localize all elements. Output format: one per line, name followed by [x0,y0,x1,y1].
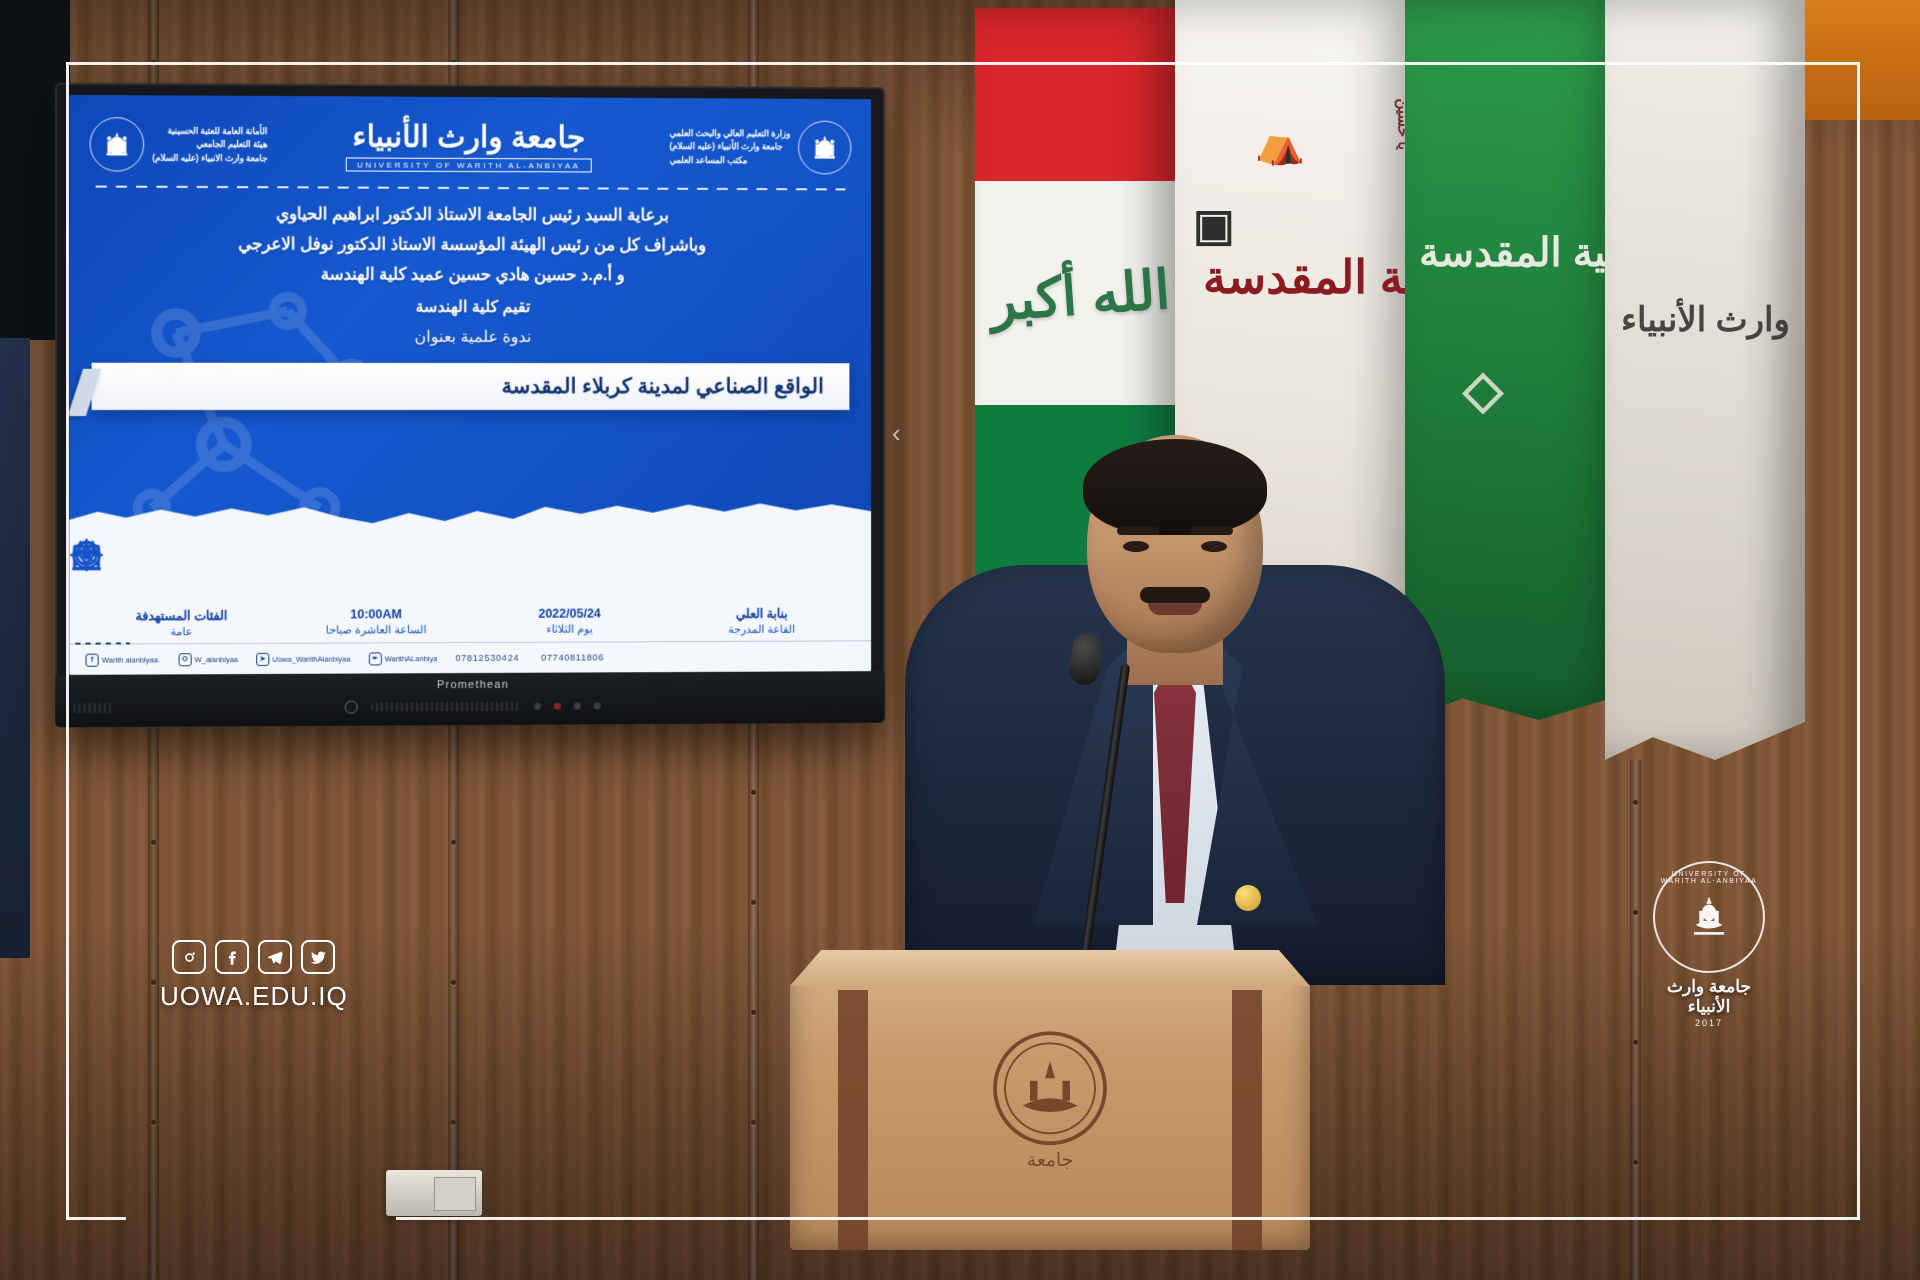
speaker-head [1087,435,1263,653]
interactive-flat-panel[interactable]: الأمانة العامة للعتبة الحسينية هيئة التع… [55,83,885,728]
shrine-crest-icon [798,121,851,175]
panel-controls[interactable] [345,699,601,713]
speaker-mouth [1148,603,1202,615]
title-ribbon-wrapper: الواقع الصناعي لمدينة كربلاء المقدسة [92,363,850,410]
panel-indicator-2 [574,702,581,709]
header-right-line1: الأمانة العامة للعتبة الحسينية [152,125,267,139]
time-value: 10:00AM [279,607,473,622]
wall-side-panel [0,338,30,958]
speaker-person [905,425,1445,985]
slide-body: برعاية السيد رئيس الجامعة الاستاذ الدكتو… [69,187,871,363]
panel-indicator-red [554,703,561,710]
instagram-icon[interactable] [172,940,206,974]
podium-accent-strip-left [838,990,868,1250]
wordmark-arabic: جامعة وارث الأنبياء [275,119,661,156]
speaker-eyebrow-left [1117,527,1159,535]
telegram-icon[interactable] [258,940,292,974]
speaker-eyebrow-right [1191,527,1233,535]
slide-footer: f Warith alanbiyaa. O W_alanbiyaa ➤ Uowa… [69,640,871,675]
header-left-line3: مكتب المساعد العلمي [669,153,790,167]
location-sub: القاعة المدرجة [666,623,857,639]
brand-url: UOWA.EDU.IQ [160,981,348,1012]
brand-social-icons[interactable] [160,940,348,974]
audience-sub: عامة [83,625,278,641]
panel-speaker-grille-left [73,703,114,713]
info-location: بنابة العلي القاعة المدرجة [666,560,857,638]
header-left-line2: جامعة وارث الأنبياء (عليه السلام) [669,140,790,154]
info-date: 2022/05/24 يوم الثلاثاء [473,561,666,639]
torn-paper-section: بنابة العلي القاعة المدرجة [69,522,871,674]
slide-line-subtitle: ندوة علمية بعنوان [100,326,842,347]
panel-screen[interactable]: الأمانة العامة للعتبة الحسينية هيئة التع… [69,95,871,675]
podium-accent-strip-right [1232,990,1262,1250]
seal-glyph [1678,886,1740,948]
location-value: بنابة العلي [666,606,857,622]
wordmark-english: UNIVERSITY OF WARITH AL-ANBIYAA [346,157,592,172]
social-twitter: ✒ WarithALanbiya [369,652,438,665]
podium-university-emblem: جامعة [975,1012,1125,1202]
speaker-eye-left [1123,541,1149,552]
university-watermark: UNIVERSITY OF WARITH AL-ANBIYAA جامعة وا… [1646,861,1772,1028]
brand-footer: UOWA.EDU.IQ [160,940,348,1012]
instagram-handle: W_alanbiyaa [194,655,238,664]
seal-name-ar: جامعة وارث الأنبياء [1646,977,1772,1017]
shrine-crest-icon [90,117,145,172]
slide-line-dean: و أ.م.د حسين هادي حسين عميد كلية الهندسة [100,264,842,286]
twitter-handle: WarithALanbiya [385,654,438,663]
contact-phones: 07812530424 07740811806 [455,652,604,663]
slide-line-patronage: برعاية السيد رئيس الجامعة الاستاذ الدكتو… [100,204,842,226]
phone-1: 07812530424 [455,653,519,663]
iraq-flag-inscription: الله أكبر [988,258,1172,333]
info-time: 10:00AM الساعة العاشرة صباحا [279,561,473,640]
location-pin-icon [666,560,857,604]
clock-icon [279,561,473,606]
panel-speaker-grille [371,702,521,712]
telegram-icon: ➤ [256,652,269,665]
facebook-icon: f [86,653,99,666]
event-info-row: بنابة العلي القاعة المدرجة [69,560,871,641]
facebook-handle: Warith alanbiyaa. [102,655,160,664]
panel-indicator [534,703,541,710]
seal-caption-en: UNIVERSITY OF WARITH AL-ANBIYAA [1655,871,1763,885]
speaker-moustache [1140,587,1210,603]
slide-line-supervision: وباشراف كل من رئيس الهيئة المؤسسة الاستا… [100,234,842,256]
calendar-icon [473,561,666,606]
footer-dash-rule [75,642,130,644]
chevron-left-icon[interactable]: ‹ [892,418,901,449]
target-icon [83,562,278,607]
slide-header: الأمانة العامة للعتبة الحسينية هيئة التع… [69,95,871,183]
twitter-glyph [310,949,327,966]
social-instagram: O W_alanbiyaa [178,653,238,666]
presentation-slide: الأمانة العامة للعتبة الحسينية هيئة التع… [69,95,871,675]
telegram-handle: Uowa_WarithAlanbiyaa [272,654,350,663]
header-right-text: الأمانة العامة للعتبة الحسينية هيئة التع… [152,125,267,165]
crest-glyph [808,131,842,165]
speaker-eye-right [1201,541,1227,552]
instagram-icon: O [178,653,191,666]
university-wordmark: جامعة وارث الأنبياء UNIVERSITY OF WARITH… [275,119,661,174]
header-right-line3: جامعة وارث الانبياء (عليه السلام) [152,151,267,165]
wall-power-socket [386,1170,482,1216]
phone-2: 07740811806 [541,652,604,662]
wooden-podium: جامعة [790,950,1310,1250]
podium-top-ledge [790,950,1310,986]
facebook-icon[interactable] [215,940,249,974]
panel-indicator-3 [594,702,601,709]
flag-calligraphy: وارث الأنبياء [1605,0,1805,760]
power-button[interactable] [345,701,358,714]
svg-text:جامعة: جامعة [1027,1150,1073,1171]
facebook-glyph [224,949,241,966]
info-audience: الفئات المستهدفة عامة [83,562,278,641]
religious-banner-flag: وارث الأنبياء [1605,0,1805,760]
orange-banner-flag [1790,0,1920,120]
telegram-glyph [267,949,284,966]
slide-line-organizer: تقيم كلية الهندسة [100,296,842,317]
seminar-title: الواقع الصناعي لمدينة كربلاء المقدسة [92,363,850,410]
header-right-line2: هيئة التعليم الجامعي [152,138,267,152]
header-left-line1: وزارة التعليم العالي والبحث العلمي [669,127,790,141]
wall-seam [1630,760,1641,1280]
social-facebook: f Warith alanbiyaa. [86,653,161,666]
header-left-text: وزارة التعليم العالي والبحث العلمي جامعة… [669,127,790,167]
crest-glyph [100,127,134,161]
university-seal-icon: UNIVERSITY OF WARITH AL-ANBIYAA [1653,861,1765,973]
social-telegram: ➤ Uowa_WarithAlanbiyaa [256,652,350,665]
date-value: 2022/05/24 [473,606,666,621]
speaker-hair [1083,439,1267,535]
twitter-icon: ✒ [369,652,382,665]
audience-value: الفئات المستهدفة [83,608,278,624]
panel-bottom-bezel: Promethean [55,671,885,727]
date-sub: يوم الثلاثاء [473,622,666,638]
seal-year: 2017 [1646,1018,1772,1028]
target-glyph [69,538,103,572]
speaker-lapel-pin [1235,885,1261,911]
screenshot-stage: الله أكبر يا حسين العتبة الحسينية المقدس… [0,0,1920,1280]
instagram-glyph [181,949,198,966]
torn-edge [69,499,871,529]
twitter-icon[interactable] [301,940,335,974]
panel-brand-label: Promethean [437,679,509,691]
time-sub: الساعة العاشرة صباحا [279,623,473,639]
